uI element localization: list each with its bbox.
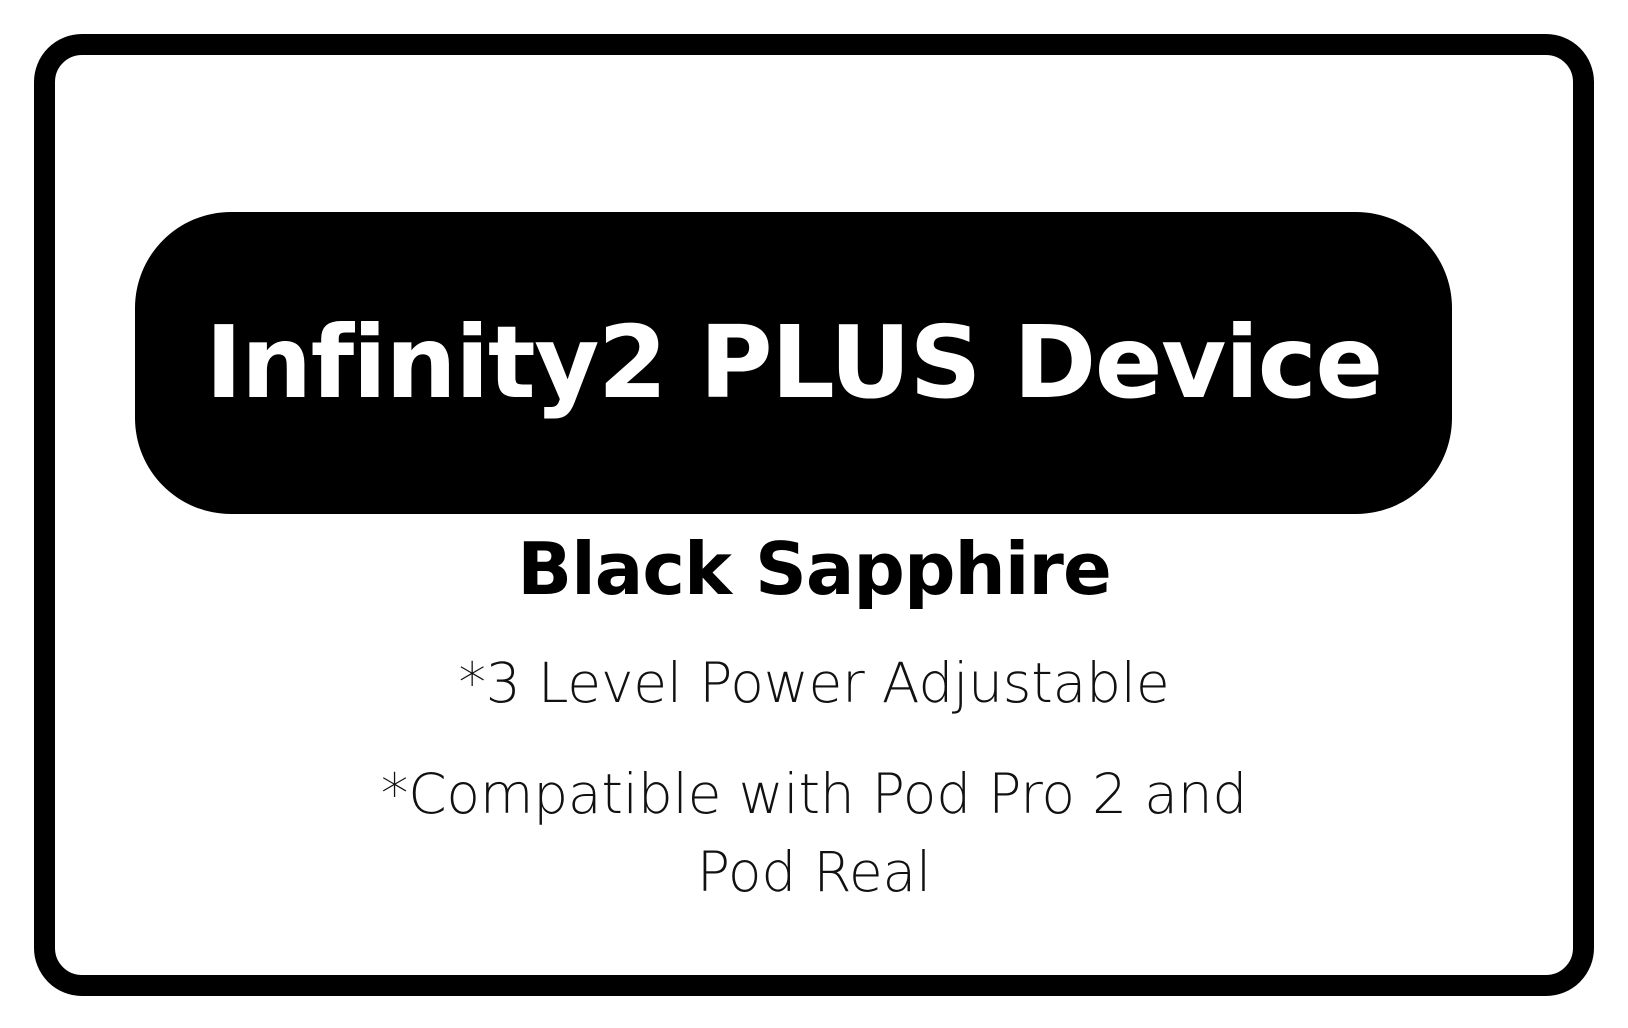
feature-list: *3 Level Power Adjustable *Compatible wi… (55, 655, 1573, 900)
feature-item-compatibility: *Compatible with Pod Pro 2 and (55, 766, 1573, 822)
product-variant-name: Black Sapphire (55, 533, 1573, 605)
product-card: Infinity2 PLUS Device Black Sapphire *3 … (34, 34, 1594, 996)
feature-item-compatibility-continued: Pod Real (55, 844, 1573, 900)
title-banner: Infinity2 PLUS Device (135, 212, 1452, 514)
product-title: Infinity2 PLUS Device (205, 313, 1381, 413)
feature-item-power: *3 Level Power Adjustable (55, 655, 1573, 711)
product-label-canvas: Infinity2 PLUS Device Black Sapphire *3 … (0, 0, 1628, 1028)
card-content: Infinity2 PLUS Device Black Sapphire *3 … (55, 55, 1573, 975)
